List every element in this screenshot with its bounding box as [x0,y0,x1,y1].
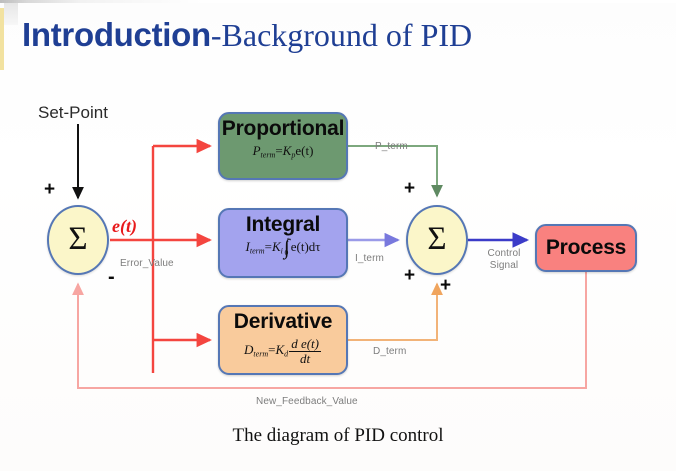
pid-block-diagram: Σ Σ + - + + + Set-Point e(t) Error_Value… [0,78,676,423]
summing-junction-output: Σ [406,205,468,275]
setpoint-label: Set-Point [38,103,108,123]
block-integral-title: Integral [220,214,346,236]
block-process: Process [535,224,637,272]
block-derivative-title: Derivative [220,311,346,333]
p-formula-sub: term [261,151,276,160]
wire-d-term [348,284,437,340]
error-signal-label: e(t) [112,216,137,237]
sign-plus-setpoint: + [44,179,55,201]
wire-p-term [348,146,437,196]
i-formula-eq: = [265,239,272,254]
block-derivative: Derivative Dterm=Kdd e(t)dt [218,305,348,375]
sign-plus-i-term: + [404,265,415,287]
left-grey-accent [4,3,18,25]
page-title-rest: -Background of PID [211,17,472,53]
d-term-label: D_term [373,346,406,357]
d-formula-ksub: d [284,350,288,359]
sign-plus-d-term: + [440,275,451,297]
d-formula-eq: = [268,342,275,357]
diagram-caption: The diagram of PID control [0,425,676,447]
control-signal-line2: Signal [490,260,518,271]
control-signal-label: Control Signal [478,248,530,271]
page-title: Introduction-Background of PID [22,13,472,57]
integral-upper-limit: t [287,238,289,243]
block-derivative-formula: Dterm=Kdd e(t)dt [220,337,346,365]
block-proportional: Proportional Pterm=Kpe(t) [218,112,348,180]
block-process-title: Process [546,237,626,259]
i-formula-sub: term [250,247,265,256]
i-formula-tail: e(t)dτ [291,239,321,254]
i-term-label: I_term [355,253,384,264]
block-integral: Integral Iterm=Ki∫t0e(t)dτ [218,208,348,278]
d-formula-lhs: D [244,342,253,357]
p-term-label: P_term [375,141,408,152]
p-formula-lhs: P [253,143,261,158]
d-formula-denominator: dt [289,352,321,366]
block-integral-formula: Iterm=Ki∫t0e(t)dτ [220,240,346,256]
control-signal-line1: Control [488,248,521,259]
integral-sign-icon: ∫t0 [284,241,290,254]
derivative-fraction: d e(t)dt [289,337,321,365]
d-formula-k: K [276,342,285,357]
feedback-value-label: New_Feedback_Value [256,396,358,407]
sigma-symbol-right: Σ [427,221,446,257]
i-formula-ksub: i [281,247,283,256]
d-formula-sub: term [253,350,268,359]
summing-junction-error: Σ [47,205,109,275]
window-top-edge [0,0,676,3]
block-proportional-title: Proportional [220,118,346,140]
left-gold-accent-bar [0,8,4,70]
error-value-label: Error_Value [120,258,174,269]
sigma-symbol-left: Σ [68,221,87,257]
sign-minus-feedback: - [108,266,115,289]
block-proportional-formula: Pterm=Kpe(t) [220,144,346,160]
p-formula-tail: e(t) [295,143,313,158]
d-formula-numerator: d e(t) [289,337,321,352]
p-formula-eq: = [275,143,282,158]
i-formula-k: K [272,239,281,254]
integral-lower-limit: 0 [284,251,288,256]
slide-canvas: Introduction-Background of PID [0,0,676,471]
sign-plus-p-term: + [404,178,415,200]
page-title-bold: Introduction [22,16,211,53]
